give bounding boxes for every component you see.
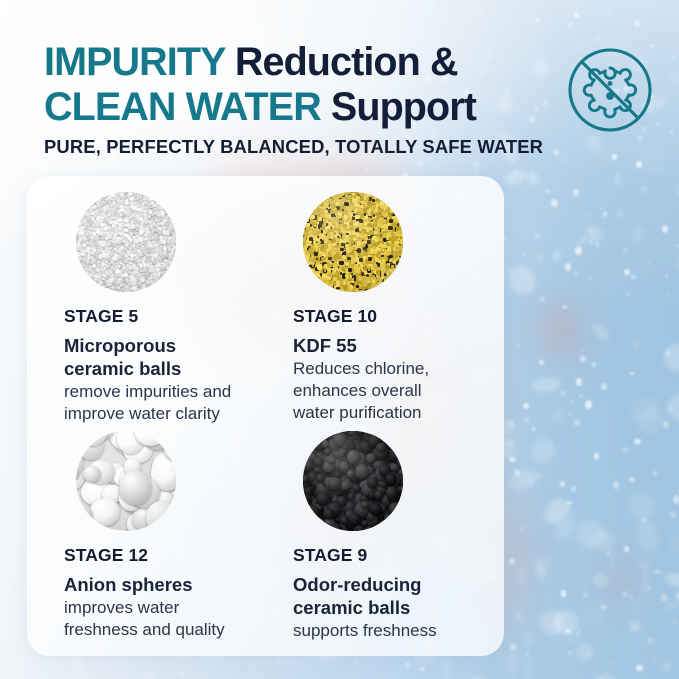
stage-material: KDF 55 xyxy=(293,334,505,357)
stage-description-line3: water purification xyxy=(293,403,422,422)
odor-reducing-ceramic-balls-swatch xyxy=(303,431,403,531)
stage-description: improves water freshness and quality xyxy=(64,597,286,641)
stage-description-line2: freshness and quality xyxy=(64,620,225,639)
stage-material: Anion spheres xyxy=(64,573,286,596)
title-line-1: IMPURITY Reduction & xyxy=(44,40,458,84)
stage-description: remove impurities and improve water clar… xyxy=(64,381,286,425)
page-title: IMPURITY Reduction & CLEAN WATER Support xyxy=(44,40,564,130)
stage-material: Microporous ceramic balls xyxy=(64,334,286,380)
stage-material-line1: Anion spheres xyxy=(64,574,193,595)
stage-description-line2: enhances overall xyxy=(293,381,422,400)
microporous-ceramic-balls-swatch xyxy=(76,192,176,292)
stage-description: Reduces chlorine, enhances overall water… xyxy=(293,358,505,424)
stage-material-line2: ceramic balls xyxy=(64,358,181,379)
poster-root: IMPURITY Reduction & CLEAN WATER Support… xyxy=(0,0,679,679)
title-rest-reduction: Reduction & xyxy=(225,40,458,84)
stages-grid: STAGE 5 Microporous ceramic balls remove… xyxy=(27,176,504,656)
title-rest-support: Support xyxy=(321,85,476,129)
stage-material-line1: KDF 55 xyxy=(293,335,357,356)
stage-description-line1: Reduces chlorine, xyxy=(293,359,429,378)
stage-material-line1: Odor-reducing xyxy=(293,574,421,595)
germ-free-icon xyxy=(560,40,660,140)
stage-material-line2: ceramic balls xyxy=(293,597,410,618)
stage-description-line1: remove impurities and xyxy=(64,382,231,401)
stage-label: STAGE 5 xyxy=(64,306,286,327)
anion-spheres-swatch xyxy=(76,431,176,531)
stage-item: STAGE 10 KDF 55 Reduces chlorine, enhanc… xyxy=(285,192,505,424)
page-subtitle: PURE, PERFECTLY BALANCED, TOTALLY SAFE W… xyxy=(44,136,543,158)
stage-label: STAGE 10 xyxy=(293,306,505,327)
stage-label: STAGE 9 xyxy=(293,545,505,566)
title-highlight-clean-water: CLEAN WATER xyxy=(44,85,321,129)
stage-item: STAGE 5 Microporous ceramic balls remove… xyxy=(46,192,286,425)
title-highlight-impurity: IMPURITY xyxy=(44,40,225,84)
stage-description-line1: supports freshness xyxy=(293,621,437,640)
stage-description-line2: improve water clarity xyxy=(64,404,220,423)
stage-item: STAGE 9 Odor-reducing ceramic balls supp… xyxy=(285,431,505,642)
title-line-2: CLEAN WATER Support xyxy=(44,85,476,129)
stage-label: STAGE 12 xyxy=(64,545,286,566)
stages-card: STAGE 5 Microporous ceramic balls remove… xyxy=(27,176,504,656)
kdf-55-granules-swatch xyxy=(303,192,403,292)
stage-material: Odor-reducing ceramic balls xyxy=(293,573,505,619)
stage-material-line1: Microporous xyxy=(64,335,176,356)
stage-description: supports freshness xyxy=(293,620,505,642)
stage-description-line1: improves water xyxy=(64,598,179,617)
stage-item: STAGE 12 Anion spheres improves water fr… xyxy=(46,431,286,641)
